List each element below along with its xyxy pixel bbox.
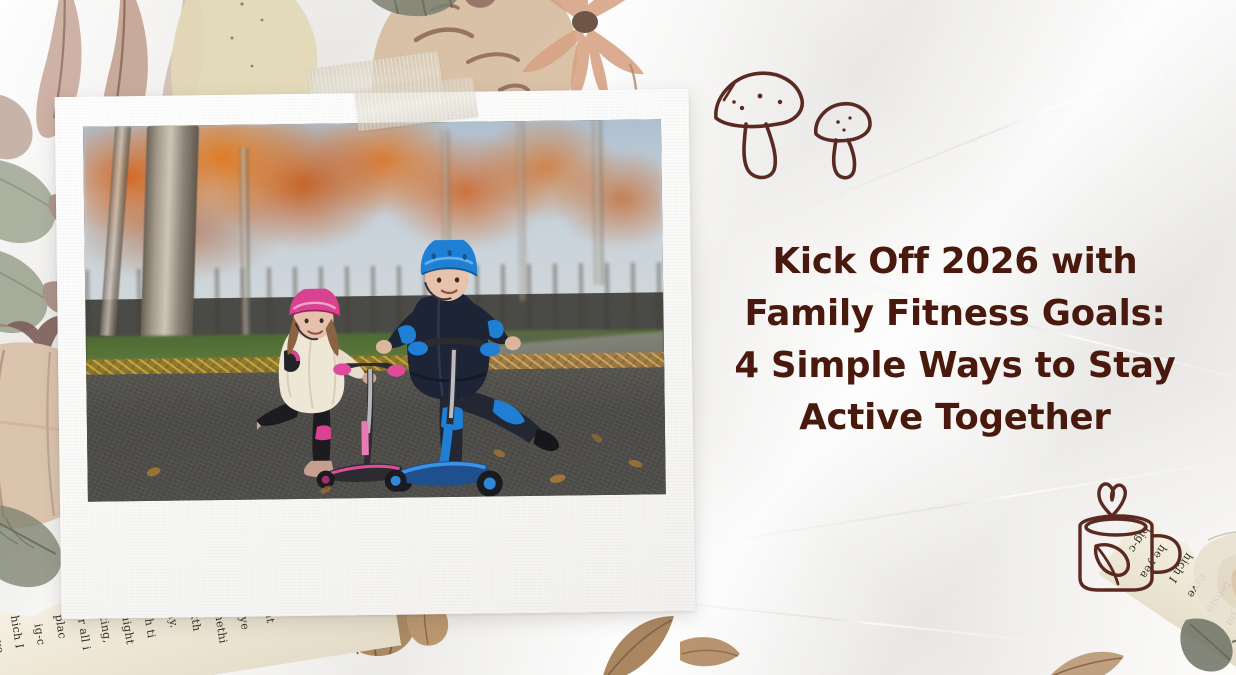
photo-tree-trunk — [592, 120, 604, 285]
newsprint-text: ig-c — [32, 623, 48, 646]
photo-image — [83, 119, 666, 502]
paper-crease — [978, 0, 1202, 140]
newsprint-text: tensio — [1203, 579, 1234, 616]
title-line-1: Kick Off 2026 with — [700, 236, 1210, 288]
decor-leaf-bottom-right-corner — [1044, 624, 1164, 675]
title-line-3: 4 Simple Ways to Stay — [700, 340, 1210, 392]
poster-canvas: ne ye hich I ig-c plac r all i ating, ni… — [0, 0, 1236, 675]
decor-flower-top-center — [504, 0, 664, 94]
newsprint-text: r all i — [75, 618, 93, 651]
mushrooms-doodle — [698, 58, 878, 183]
newsprint-text: ne ye — [0, 622, 7, 655]
mug-doodle — [1052, 474, 1192, 598]
page-title: Kick Off 2026 with Family Fitness Goals:… — [700, 236, 1210, 444]
polaroid-photo-frame[interactable] — [55, 89, 696, 619]
newsprint-text: hich I — [8, 614, 26, 649]
paper-crease — [641, 598, 1059, 644]
title-line-2: Family Fitness Goals: — [700, 288, 1210, 340]
newsprint-text: n pa — [1223, 600, 1236, 628]
title-line-4: Active Together — [700, 392, 1210, 444]
photo-scattered-leaves — [87, 419, 666, 502]
